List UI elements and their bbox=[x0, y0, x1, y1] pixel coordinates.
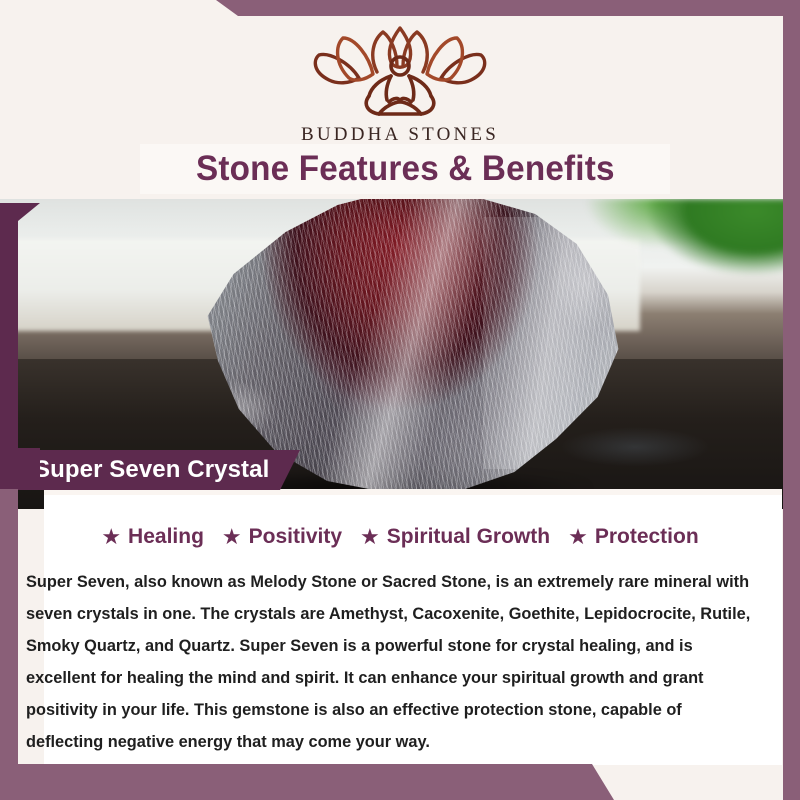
star-icon: ★ bbox=[101, 526, 121, 548]
title-bar: Stone Features & Benefits bbox=[140, 144, 670, 194]
frame-right-edge bbox=[783, 0, 800, 800]
page-title: Stone Features & Benefits bbox=[196, 149, 615, 189]
star-icon: ★ bbox=[360, 526, 380, 548]
benefit-item: ★ Protection bbox=[568, 525, 699, 549]
benefit-label: Healing bbox=[128, 525, 204, 549]
benefit-label: Spiritual Growth bbox=[387, 525, 550, 549]
stone-name-banner: Super Seven Crystal bbox=[18, 450, 300, 490]
benefit-item: ★ Healing bbox=[101, 525, 204, 549]
description-text: Super Seven, also known as Melody Stone … bbox=[26, 566, 763, 758]
benefit-label: Positivity bbox=[249, 525, 342, 549]
benefit-item: ★ Positivity bbox=[222, 525, 342, 549]
brand-name: BUDDHA STONES bbox=[0, 124, 800, 146]
star-icon: ★ bbox=[222, 526, 242, 548]
frame-bottom-left bbox=[0, 764, 800, 800]
photo-table-highlight bbox=[560, 427, 710, 467]
benefit-label: Protection bbox=[595, 525, 699, 549]
brand-logo: BUDDHA STONES bbox=[0, 22, 800, 146]
benefit-item: ★ Spiritual Growth bbox=[360, 525, 550, 549]
benefits-row: ★ Healing ★ Positivity ★ Spiritual Growt… bbox=[0, 525, 800, 549]
star-icon: ★ bbox=[568, 526, 588, 548]
stone-name-label: Super Seven Crystal bbox=[18, 456, 269, 484]
frame-corner-accent bbox=[0, 448, 40, 489]
lotus-meditation-figure-icon bbox=[305, 22, 495, 120]
frame-left-accent bbox=[0, 203, 18, 489]
infographic-poster: BUDDHA STONES Stone Features & Benefits … bbox=[0, 0, 800, 800]
